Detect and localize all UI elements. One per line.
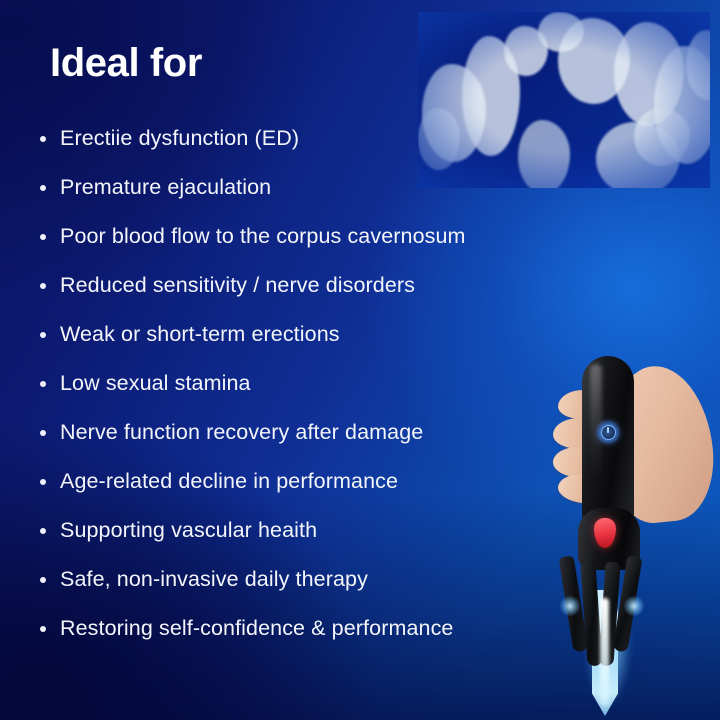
list-item-label: Weak or short-term erections [60, 322, 340, 347]
device-spark-icon [560, 596, 580, 616]
bullet-dot-icon [40, 381, 46, 387]
list-item: Premature ejaculation [38, 163, 598, 212]
list-item-label: Supporting vascular heaith [60, 518, 317, 543]
list-item: Restoring self-confidence & performance [38, 604, 598, 653]
list-item: Erectiie dysfunction (ED) [38, 114, 598, 163]
bullet-dot-icon [40, 234, 46, 240]
promo-graphic: Ideal for Erectiie dysfunction (ED) Prem… [0, 0, 720, 720]
bullet-dot-icon [40, 528, 46, 534]
power-symbol-icon [601, 425, 616, 440]
benefits-list: Erectiie dysfunction (ED) Premature ejac… [38, 114, 598, 653]
bullet-dot-icon [40, 185, 46, 191]
page-title: Ideal for [50, 43, 202, 83]
list-item: Reduced sensitivity / nerve disorders [38, 261, 598, 310]
list-item-label: Age-related decline in performance [60, 469, 398, 494]
list-item: Age-related decline in performance [38, 457, 598, 506]
list-item-label: Safe, non-invasive daily therapy [60, 567, 368, 592]
power-button-icon [596, 420, 620, 444]
list-item-label: Erectiie dysfunction (ED) [60, 126, 299, 151]
list-item: Nerve function recovery after damage [38, 408, 598, 457]
list-item: Low sexual stamina [38, 359, 598, 408]
bullet-dot-icon [40, 479, 46, 485]
bullet-dot-icon [40, 136, 46, 142]
list-item-label: Reduced sensitivity / nerve disorders [60, 273, 415, 298]
product-device-image [520, 358, 720, 720]
device-tip-core [600, 598, 609, 706]
bullet-dot-icon [40, 430, 46, 436]
list-item: Poor blood flow to the corpus cavernosum [38, 212, 598, 261]
list-item: Supporting vascular heaith [38, 506, 598, 555]
list-item-label: Premature ejaculation [60, 175, 271, 200]
list-item-label: Nerve function recovery after damage [60, 420, 423, 445]
bullet-dot-icon [40, 332, 46, 338]
list-item: Weak or short-term erections [38, 310, 598, 359]
bullet-dot-icon [40, 626, 46, 632]
list-item-label: Restoring self-confidence & performance [60, 616, 453, 641]
device-spark-icon [624, 596, 644, 616]
list-item-label: Poor blood flow to the corpus cavernosum [60, 224, 466, 249]
bullet-dot-icon [40, 577, 46, 583]
bullet-dot-icon [40, 283, 46, 289]
list-item: Safe, non-invasive daily therapy [38, 555, 598, 604]
list-item-label: Low sexual stamina [60, 371, 251, 396]
